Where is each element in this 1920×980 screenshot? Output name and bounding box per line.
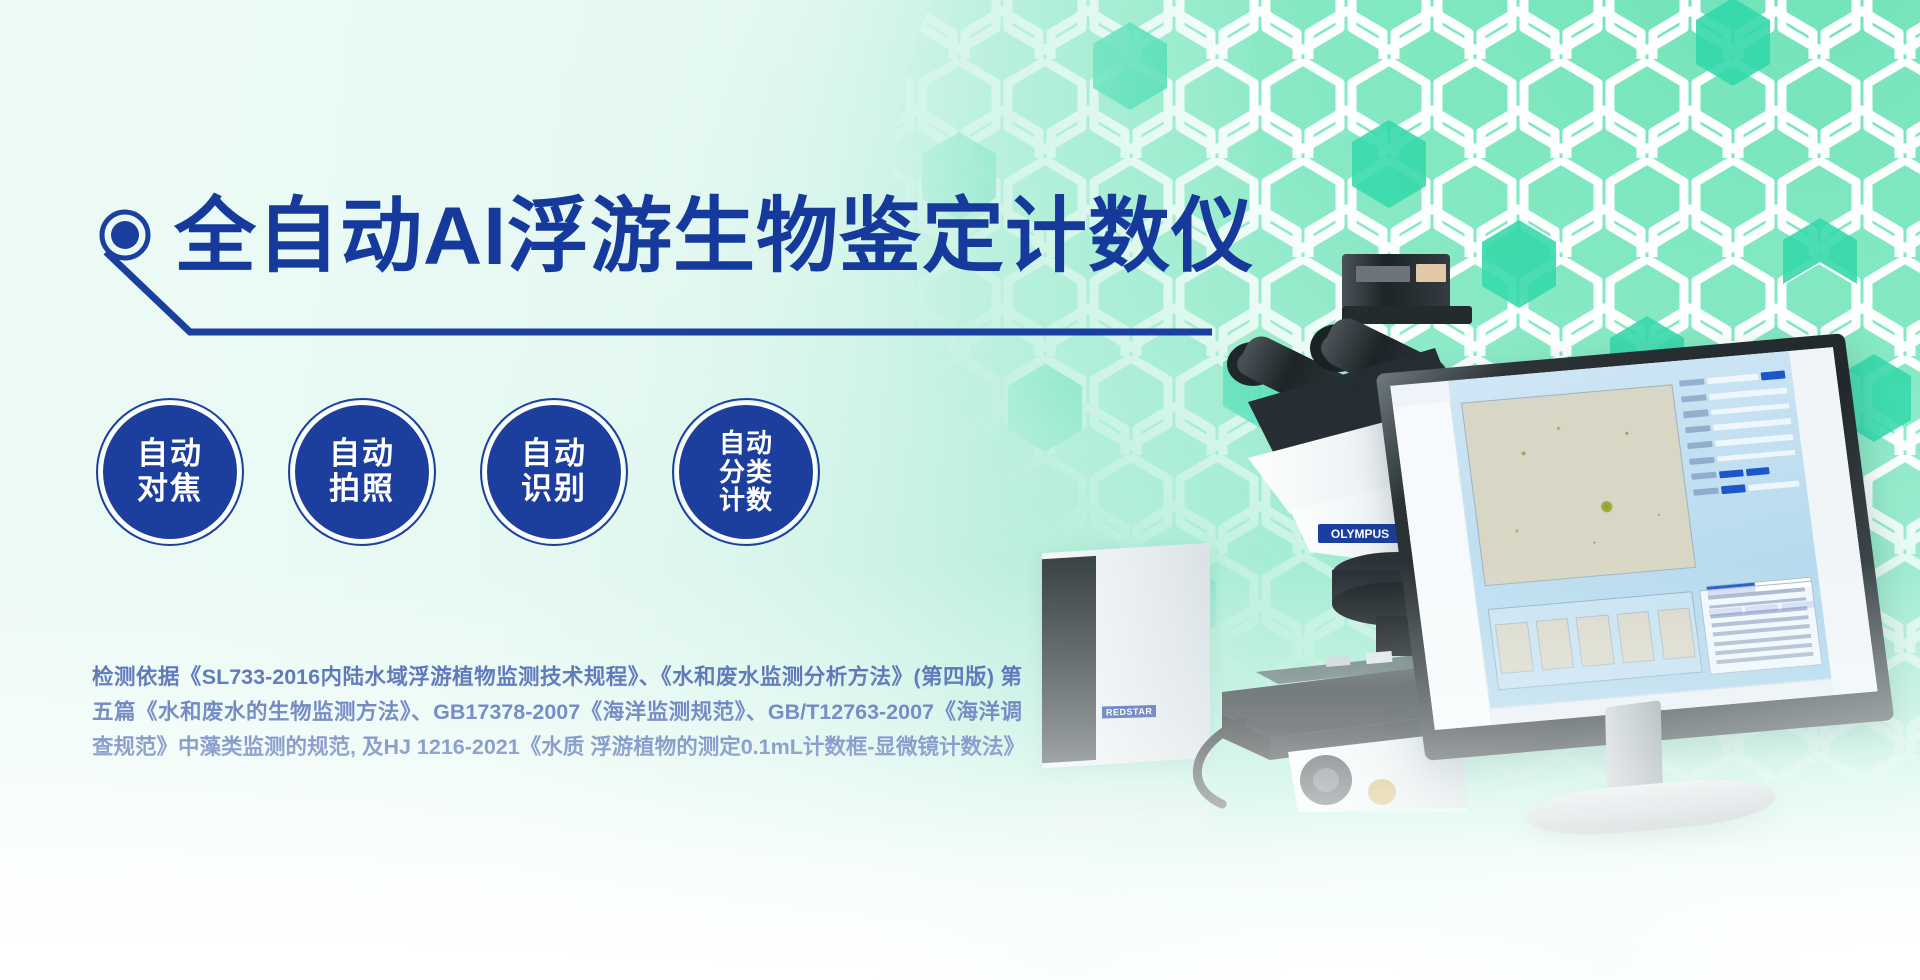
- computer-monitor: [1400, 352, 1920, 872]
- feature-circle-group: 自动对焦 自动拍照 自动识别 自动分类计数: [96, 398, 820, 546]
- feature-label-autoclassify-count: 自动分类计数: [719, 429, 773, 515]
- parameter-form[interactable]: [1678, 368, 1810, 580]
- microscope-brand-plate: [1318, 524, 1402, 543]
- controller-front-panel: [1042, 556, 1096, 763]
- action-button-row[interactable]: [1708, 600, 1815, 616]
- power-cable: [1197, 722, 1242, 804]
- right-panel-row[interactable]: [1792, 351, 1793, 355]
- bottom-fade-overlay: [0, 560, 1920, 980]
- feature-label-autorecognize: 自动识别: [521, 437, 587, 506]
- sidebar-item[interactable]: [1417, 404, 1418, 408]
- microscope-reflection: [1298, 808, 1468, 812]
- magnifier-icon: [96, 208, 158, 270]
- right-panel-row[interactable]: [1820, 348, 1821, 352]
- form-row[interactable]: [1684, 415, 1791, 437]
- right-panel-row[interactable]: [1799, 350, 1800, 354]
- feature-label-autocapture: 自动拍照: [329, 437, 395, 506]
- action-button[interactable]: [1781, 600, 1815, 610]
- software-right-panel[interactable]: [1789, 347, 1878, 695]
- title-row: 全自动AI浮游生物鉴定计数仪: [96, 196, 1254, 278]
- software-main-panel: [1448, 351, 1831, 708]
- form-row[interactable]: [1678, 368, 1785, 390]
- controller-brand-logo: REDSTAR: [1102, 705, 1156, 719]
- microscope-brand-text: OLYMPUS: [1331, 527, 1389, 541]
- micrograph-preview[interactable]: [1461, 384, 1696, 586]
- controller-reflection: [1048, 758, 1210, 836]
- standards-footnote: 检测依据《SL733-2016内陆水域浮游植物监测技术规程》、《水和废水监测分析…: [92, 660, 1022, 764]
- monitor-bezel: [1376, 333, 1895, 761]
- form-row[interactable]: [1690, 461, 1797, 483]
- software-ui: [1390, 347, 1877, 730]
- feature-label-autofocus: 自动对焦: [137, 437, 203, 506]
- monitor-base: [1524, 773, 1777, 841]
- action-button[interactable]: [1745, 603, 1779, 613]
- product-banner: 全自动AI浮游生物鉴定计数仪 自动对焦 自动拍照 自动识别 自动分类计数 检测依…: [0, 0, 1920, 980]
- objective-lens: [1376, 616, 1420, 656]
- thumbnail[interactable]: [1657, 607, 1696, 659]
- nosepiece-turret: [1332, 552, 1464, 656]
- feature-circle-autorecognize[interactable]: 自动识别: [480, 398, 628, 546]
- microscope-base: [1288, 732, 1468, 812]
- software-sidebar[interactable]: [1393, 401, 1493, 729]
- stage-control-knob: [1368, 779, 1396, 805]
- sidebar-item[interactable]: [1423, 404, 1424, 408]
- sidebar-item[interactable]: [1396, 406, 1397, 410]
- microscope-head: [1248, 402, 1502, 514]
- focus-knob-coarse: [1300, 755, 1352, 805]
- results-log-panel[interactable]: [1699, 580, 1823, 675]
- thumbnail[interactable]: [1495, 622, 1534, 674]
- form-row[interactable]: [1680, 384, 1787, 406]
- right-panel-row[interactable]: [1828, 348, 1829, 352]
- thumbnail[interactable]: [1576, 615, 1615, 667]
- motorized-stage: [1222, 651, 1534, 760]
- microscope-arm: [1290, 462, 1502, 570]
- monitor-screen[interactable]: [1390, 347, 1877, 730]
- page-title: 全自动AI浮游生物鉴定计数仪: [174, 196, 1254, 278]
- camera-module: [1342, 254, 1472, 324]
- sidebar-item-selected[interactable]: [1403, 406, 1404, 410]
- progress-bar: [1705, 577, 1812, 597]
- thumbnail[interactable]: [1535, 618, 1574, 670]
- form-row[interactable]: [1688, 446, 1795, 468]
- form-row[interactable]: [1682, 399, 1789, 421]
- taskbar[interactable]: [1490, 678, 1833, 725]
- thumbnail-strip[interactable]: [1488, 591, 1703, 691]
- feature-circle-autofocus[interactable]: 自动对焦: [96, 398, 244, 546]
- feature-circle-autocapture[interactable]: 自动拍照: [288, 398, 436, 546]
- right-panel-row[interactable]: [1806, 349, 1807, 353]
- sidebar-item[interactable]: [1410, 405, 1411, 409]
- action-button[interactable]: [1708, 606, 1742, 616]
- feature-circle-autoclassify-count[interactable]: 自动分类计数: [672, 398, 820, 546]
- controller-box: REDSTAR: [1042, 543, 1210, 769]
- monitor-shadow: [1510, 822, 1800, 856]
- thumbnail[interactable]: [1616, 611, 1655, 663]
- form-row[interactable]: [1686, 430, 1793, 452]
- right-panel-row[interactable]: [1813, 349, 1814, 353]
- form-row[interactable]: [1692, 477, 1799, 499]
- right-panel-row[interactable]: [1835, 347, 1836, 351]
- monitor-neck: [1605, 700, 1663, 804]
- binocular-eyepieces: [1227, 312, 1460, 466]
